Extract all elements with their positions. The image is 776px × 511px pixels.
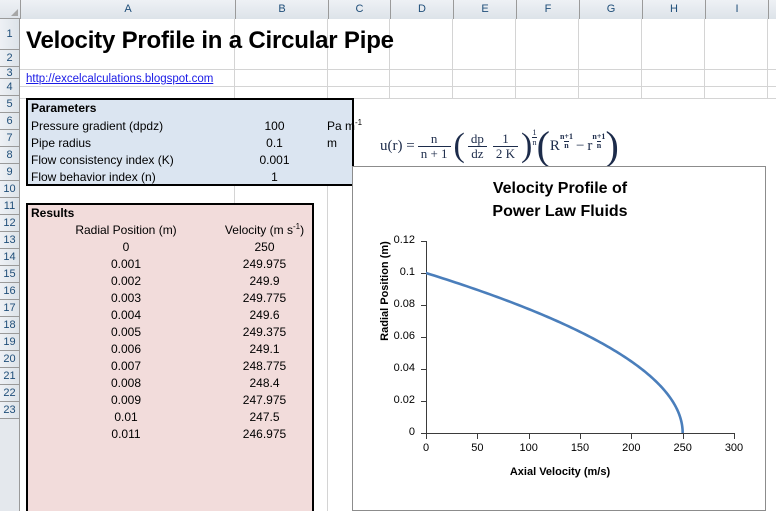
results-cell-velocity[interactable]: 250 bbox=[218, 239, 311, 256]
x-tick-mark bbox=[580, 434, 581, 439]
param-value-flow-behavior-index[interactable]: 1 bbox=[228, 169, 321, 186]
x-tick-label: 150 bbox=[560, 443, 600, 454]
equation-frac1-denominator: n + 1 bbox=[418, 146, 451, 161]
velocity-header-exp: -1 bbox=[293, 222, 300, 231]
results-cell-radial-position[interactable]: 0.011 bbox=[31, 426, 221, 443]
blog-link[interactable]: http://excelcalculations.blogspot.com bbox=[26, 71, 326, 87]
close-paren-icon: ) bbox=[521, 132, 532, 159]
row-header-10[interactable]: 10 bbox=[0, 181, 19, 198]
column-header-c[interactable]: C bbox=[329, 0, 391, 19]
column-header-h[interactable]: H bbox=[643, 0, 706, 19]
velocity-header-base: Velocity (m s bbox=[225, 223, 293, 237]
results-cell-velocity[interactable]: 247.975 bbox=[218, 392, 311, 409]
results-cell-velocity[interactable]: 249.6 bbox=[218, 307, 311, 324]
results-cell-radial-position[interactable]: 0.01 bbox=[31, 409, 221, 426]
spreadsheet-window: A B C D E F G H I J 12345678910111213141… bbox=[0, 0, 776, 511]
results-cell-velocity[interactable]: 249.375 bbox=[218, 324, 311, 341]
row-header-8[interactable]: 8 bbox=[0, 147, 19, 164]
row-header-9[interactable]: 9 bbox=[0, 164, 19, 181]
open-paren2-icon: ( bbox=[537, 130, 550, 162]
results-cell-radial-position[interactable]: 0.007 bbox=[31, 358, 221, 375]
equation-exp-denominator: n bbox=[532, 137, 536, 147]
results-cell-velocity[interactable]: 249.1 bbox=[218, 341, 311, 358]
results-col-header-velocity: Velocity (m s-1) bbox=[218, 222, 311, 239]
row-header-19[interactable]: 19 bbox=[0, 334, 19, 351]
x-tick-label: 200 bbox=[611, 443, 651, 454]
equation-exp-numerator: 1 bbox=[532, 128, 536, 137]
row-header-18[interactable]: 18 bbox=[0, 317, 19, 334]
column-header-a[interactable]: A bbox=[21, 0, 236, 19]
row-header-2[interactable]: 2 bbox=[0, 50, 19, 67]
equation-frac3-denominator: 2 K bbox=[493, 146, 518, 161]
chart-x-axis-title: Axial Velocity (m/s) bbox=[353, 466, 767, 478]
param-unit-base-0: Pa m bbox=[327, 119, 355, 133]
results-cell-radial-position[interactable]: 0 bbox=[31, 239, 221, 256]
param-label-pipe-radius: Pipe radius bbox=[31, 135, 231, 152]
results-cell-velocity[interactable]: 249.9 bbox=[218, 273, 311, 290]
row-header-4[interactable]: 4 bbox=[0, 79, 19, 96]
results-cell-radial-position[interactable]: 0.009 bbox=[31, 392, 221, 409]
param-label-flow-consistency-index: Flow consistency index (K) bbox=[31, 152, 231, 169]
equation-exponent-1-over-n: 1 n bbox=[532, 128, 536, 146]
velocity-profile-chart[interactable]: Velocity Profile of Power Law Fluids 00.… bbox=[352, 166, 766, 511]
open-paren-icon: ( bbox=[454, 132, 465, 159]
row-header-16[interactable]: 16 bbox=[0, 283, 19, 300]
equation-lhs: u(r) = bbox=[380, 138, 415, 155]
row-header-23[interactable]: 23 bbox=[0, 402, 19, 419]
row-header-1[interactable]: 1 bbox=[0, 19, 19, 50]
results-cell-radial-position[interactable]: 0.008 bbox=[31, 375, 221, 392]
chart-plot-area bbox=[426, 241, 734, 433]
results-cell-velocity[interactable]: 247.5 bbox=[218, 409, 311, 426]
results-cell-radial-position[interactable]: 0.003 bbox=[31, 290, 221, 307]
equation-fraction-dp-dz: dp dz bbox=[468, 132, 487, 160]
equation-term-R: R bbox=[550, 138, 560, 155]
row-header-21[interactable]: 21 bbox=[0, 368, 19, 385]
column-header-g[interactable]: G bbox=[580, 0, 643, 19]
chart-y-axis-title: Radial Position (m) bbox=[379, 216, 391, 366]
equation-fraction-n-over-n-plus-1: n n + 1 bbox=[418, 132, 451, 160]
column-header-e[interactable]: E bbox=[454, 0, 517, 19]
x-tick-mark bbox=[477, 434, 478, 439]
results-cell-velocity[interactable]: 249.775 bbox=[218, 290, 311, 307]
results-cell-velocity[interactable]: 246.975 bbox=[218, 426, 311, 443]
row-header-11[interactable]: 11 bbox=[0, 198, 19, 215]
equation-frac3-numerator: 1 bbox=[499, 132, 512, 146]
x-tick-mark bbox=[426, 434, 427, 439]
equation-minus-sign: − bbox=[576, 138, 584, 155]
row-header-13[interactable]: 13 bbox=[0, 232, 19, 249]
row-header-14[interactable]: 14 bbox=[0, 249, 19, 266]
equation-powr-numerator: n+1 bbox=[592, 133, 605, 141]
param-unit-pipe-radius: m bbox=[327, 135, 387, 152]
row-header-12[interactable]: 12 bbox=[0, 215, 19, 232]
param-value-pressure-gradient[interactable]: 100 bbox=[228, 118, 321, 135]
results-cell-velocity[interactable]: 248.775 bbox=[218, 358, 311, 375]
column-header-d[interactable]: D bbox=[391, 0, 454, 19]
y-tick-label: 0.02 bbox=[375, 395, 415, 406]
equation-power-R: n+1 n bbox=[560, 133, 573, 150]
column-header-j[interactable]: J bbox=[769, 0, 776, 19]
equation-fraction-1-over-2k: 1 2 K bbox=[493, 132, 518, 160]
param-label-flow-behavior-index: Flow behavior index (n) bbox=[31, 169, 231, 186]
equation-frac2-denominator: dz bbox=[468, 146, 486, 161]
row-header-6[interactable]: 6 bbox=[0, 113, 19, 130]
close-paren2-icon: ) bbox=[605, 130, 618, 162]
chart-title: Velocity Profile of Power Law Fluids bbox=[353, 177, 767, 223]
param-unit-exp-0: -1 bbox=[355, 118, 362, 127]
row-header-bar: 1234567891011121314151617181920212223 bbox=[0, 19, 20, 511]
column-header-bar: A B C D E F G H I J bbox=[0, 0, 776, 19]
results-cell-radial-position[interactable]: 0.005 bbox=[31, 324, 221, 341]
row-header-7[interactable]: 7 bbox=[0, 130, 19, 147]
results-cell-radial-position[interactable]: 0.002 bbox=[31, 273, 221, 290]
column-header-f[interactable]: F bbox=[517, 0, 580, 19]
param-value-flow-consistency-index[interactable]: 0.001 bbox=[228, 152, 321, 169]
equation-powR-denominator: n bbox=[564, 141, 568, 150]
row-header-5[interactable]: 5 bbox=[0, 96, 19, 113]
results-cell-radial-position[interactable]: 0.006 bbox=[31, 341, 221, 358]
parameters-heading: Parameters bbox=[31, 100, 231, 117]
results-cell-velocity[interactable]: 248.4 bbox=[218, 375, 311, 392]
chart-series-line bbox=[426, 273, 683, 433]
chart-title-line1: Velocity Profile of bbox=[353, 177, 767, 200]
column-header-b[interactable]: B bbox=[236, 0, 329, 19]
column-header-i[interactable]: I bbox=[706, 0, 769, 19]
x-tick-label: 0 bbox=[406, 443, 446, 454]
row-header-3[interactable]: 3 bbox=[0, 67, 19, 79]
x-tick-label: 50 bbox=[457, 443, 497, 454]
equation-frac2-numerator: dp bbox=[468, 132, 487, 146]
results-cell-radial-position[interactable]: 0.001 bbox=[31, 256, 221, 273]
x-tick-label: 300 bbox=[714, 443, 754, 454]
results-cell-radial-position[interactable]: 0.004 bbox=[31, 307, 221, 324]
x-tick-mark bbox=[631, 434, 632, 439]
x-tick-label: 250 bbox=[663, 443, 703, 454]
x-tick-mark bbox=[683, 434, 684, 439]
velocity-header-tail: ) bbox=[300, 223, 304, 237]
chart-title-line2: Power Law Fluids bbox=[353, 200, 767, 223]
y-tick-label: 0 bbox=[375, 427, 415, 438]
row-header-20[interactable]: 20 bbox=[0, 351, 19, 368]
row-header-17[interactable]: 17 bbox=[0, 300, 19, 317]
equation-frac1-numerator: n bbox=[428, 132, 441, 146]
equation-powr-denominator: n bbox=[597, 141, 601, 150]
x-tick-mark bbox=[734, 434, 735, 439]
param-unit-pressure-gradient: Pa m-1 bbox=[327, 118, 387, 135]
page-title: Velocity Profile in a Circular Pipe bbox=[26, 25, 626, 61]
x-tick-mark bbox=[529, 434, 530, 439]
row-header-22[interactable]: 22 bbox=[0, 385, 19, 402]
row-header-15[interactable]: 15 bbox=[0, 266, 19, 283]
x-tick-label: 100 bbox=[509, 443, 549, 454]
equation-power-r: n+1 n bbox=[592, 133, 605, 150]
results-heading: Results bbox=[31, 205, 231, 222]
param-value-pipe-radius[interactable]: 0.1 bbox=[228, 135, 321, 152]
results-cell-velocity[interactable]: 249.975 bbox=[218, 256, 311, 273]
equation-powR-numerator: n+1 bbox=[560, 133, 573, 141]
param-label-pressure-gradient: Pressure gradient (dpdz) bbox=[31, 118, 231, 135]
select-all-corner[interactable] bbox=[0, 0, 21, 18]
results-col-header-radial-position: Radial Position (m) bbox=[31, 222, 221, 239]
